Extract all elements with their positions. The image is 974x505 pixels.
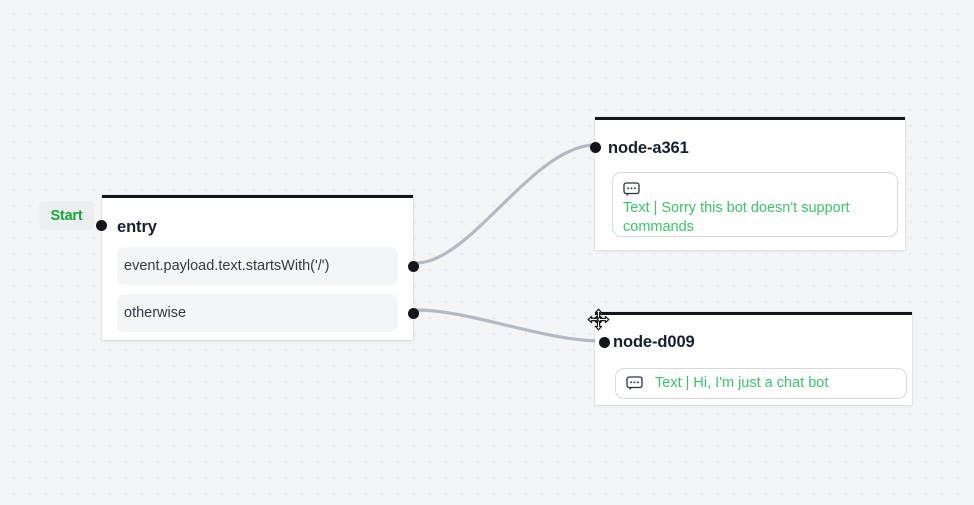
entry-output-port-0[interactable] (408, 261, 419, 272)
edge-entry-cond1-to-node-d009 (416, 310, 600, 341)
speech-bubble-icon (623, 182, 640, 197)
start-badge[interactable]: Start (39, 201, 94, 230)
flow-canvas[interactable]: Start entry event.payload.text.startsWit… (0, 0, 974, 505)
entry-condition-label-0: event.payload.text.startsWith('/') (124, 258, 329, 274)
node-entry[interactable]: entry event.payload.text.startsWith('/')… (102, 195, 413, 340)
entry-condition-label-1: otherwise (124, 305, 186, 321)
entry-node-title: entry (117, 219, 157, 236)
speech-bubble-icon (626, 376, 643, 391)
move-cursor-icon (587, 308, 610, 331)
node-a361-message-text: Text | Sorry this bot doesn't support co… (623, 199, 887, 237)
entry-input-port[interactable] (96, 220, 107, 231)
node-d009-message-card[interactable]: Text | Hi, I'm just a chat bot (615, 368, 907, 399)
start-badge-label: Start (50, 208, 82, 224)
node-d009-input-port[interactable] (599, 337, 610, 348)
node-a361[interactable]: node-a361 Text | Sorry this bot doesn't … (595, 117, 905, 250)
entry-output-port-1[interactable] (408, 308, 419, 319)
entry-condition-row-1[interactable]: otherwise (117, 294, 398, 332)
node-a361-title: node-a361 (608, 140, 689, 157)
node-a361-input-port[interactable] (590, 142, 601, 153)
node-d009-message-text: Text | Hi, I'm just a chat bot (655, 374, 828, 393)
node-d009-title: node-d009 (613, 334, 695, 351)
node-d009[interactable]: node-d009 Text | Hi, I'm just a chat bot (595, 312, 912, 405)
node-a361-message-card[interactable]: Text | Sorry this bot doesn't support co… (612, 172, 898, 237)
edge-entry-cond0-to-node-a361 (416, 145, 592, 263)
entry-condition-row-0[interactable]: event.payload.text.startsWith('/') (117, 247, 398, 285)
